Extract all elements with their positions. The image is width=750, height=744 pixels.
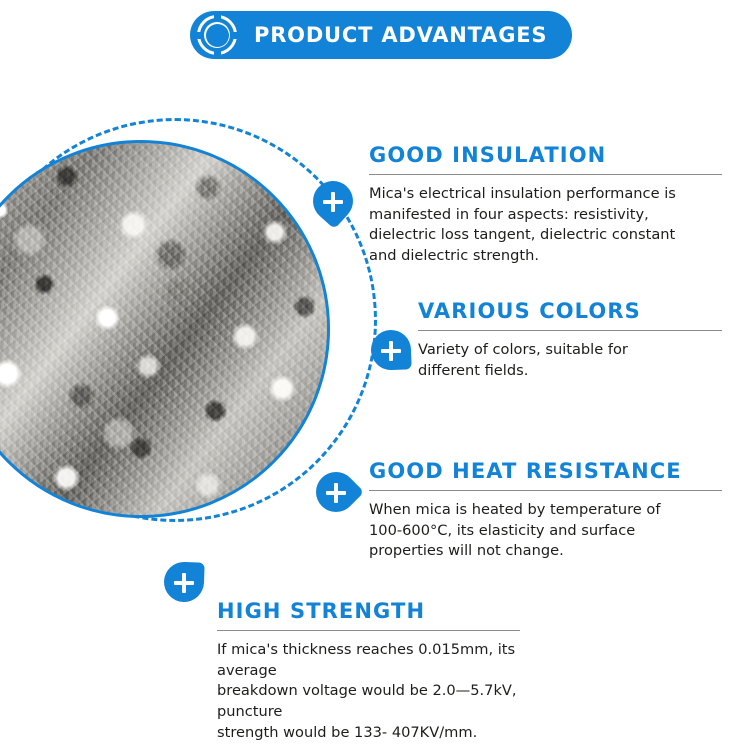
plus-badge-various-colors[interactable] (370, 329, 411, 370)
advantage-various-colors: VARIOUS COLORS Variety of colors, suitab… (418, 299, 722, 381)
divider (418, 330, 722, 331)
divider (217, 630, 520, 631)
segmented-ring-icon (196, 14, 238, 56)
plus-badge-high-strength[interactable] (163, 561, 204, 602)
advantage-body: Variety of colors, suitable for differen… (418, 340, 722, 381)
advantage-high-strength: HIGH STRENGTH If mica's thickness reache… (217, 599, 520, 744)
advantage-title: HIGH STRENGTH (217, 599, 520, 623)
header-banner: PRODUCT ADVANTAGES (190, 11, 572, 59)
advantage-title: GOOD INSULATION (369, 143, 722, 167)
advantage-body: Mica's electrical insulation performance… (369, 184, 722, 267)
advantage-body: When mica is heated by temperature of 10… (369, 500, 722, 562)
advantage-good-heat-resistance: GOOD HEAT RESISTANCE When mica is heated… (369, 459, 722, 562)
page-title: PRODUCT ADVANTAGES (254, 23, 547, 47)
advantage-body: If mica's thickness reaches 0.015mm, its… (217, 640, 520, 744)
advantage-title: GOOD HEAT RESISTANCE (369, 459, 722, 483)
advantage-title: VARIOUS COLORS (418, 299, 722, 323)
advantage-good-insulation: GOOD INSULATION Mica's electrical insula… (369, 143, 722, 267)
plus-badge-good-heat-resistance[interactable] (308, 464, 365, 521)
plus-badge-good-insulation[interactable] (305, 173, 361, 229)
divider (369, 490, 722, 491)
infographic-canvas: PRODUCT ADVANTAGES (0, 0, 750, 738)
divider (369, 174, 722, 175)
mica-photo (0, 140, 330, 518)
